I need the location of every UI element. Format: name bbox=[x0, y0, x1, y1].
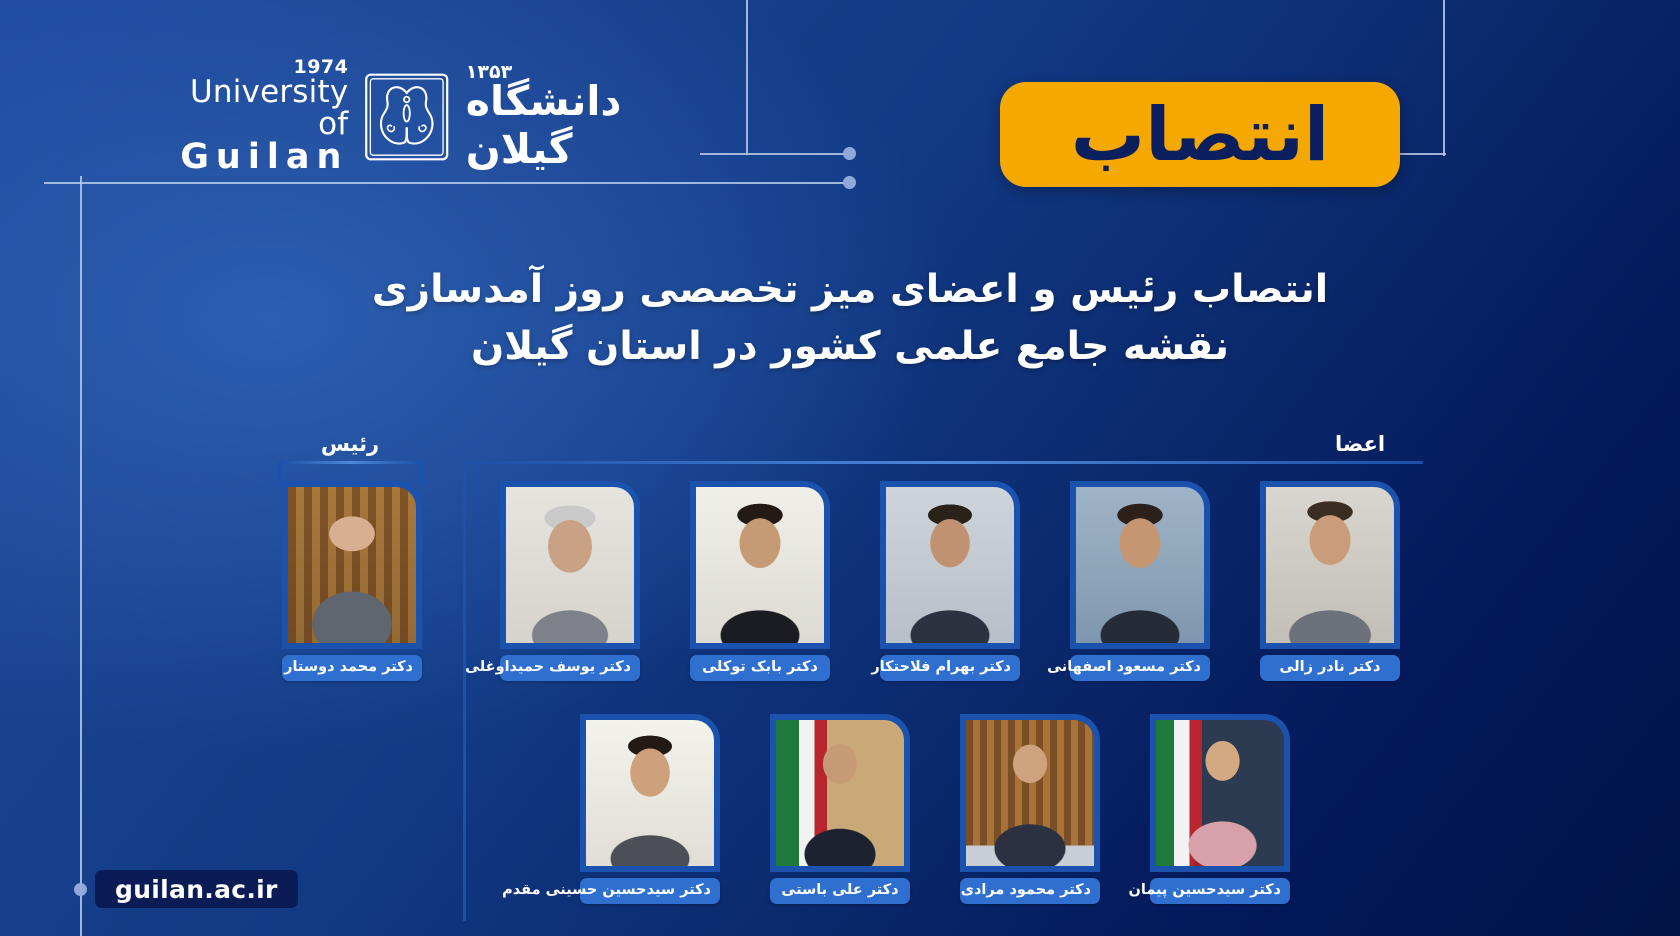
photo-frame bbox=[960, 714, 1100, 872]
photo-frame bbox=[500, 481, 640, 649]
person-name: دکتر محمد دوستار bbox=[282, 655, 422, 681]
decor-vline-upper bbox=[746, 0, 748, 155]
portrait-seyed-hossein-hosseini-moghaddam bbox=[586, 720, 714, 866]
decor-vline-left bbox=[80, 176, 82, 936]
portrait-bahram-falahatkar bbox=[886, 487, 1014, 643]
photo-frame bbox=[1070, 481, 1210, 649]
person-card-member: دکتر یوسف حمیداوغلی bbox=[500, 481, 640, 681]
person-name: دکتر بهرام فلاحتکار bbox=[880, 655, 1020, 681]
portrait-nader-zali bbox=[1266, 487, 1394, 643]
person-name: دکتر نادر زالی bbox=[1260, 655, 1400, 681]
person-name: دکتر سیدحسین حسینی مقدم bbox=[580, 878, 720, 904]
appointment-badge-label: انتصاب bbox=[1071, 98, 1329, 172]
guilan-emblem-icon bbox=[360, 71, 453, 163]
logo-persian-text: ۱۳۵۳ دانشگاه گیلان bbox=[466, 61, 735, 173]
decor-hline-long bbox=[44, 182, 844, 184]
portrait-babak-tavakoli bbox=[696, 487, 824, 643]
photo-frame bbox=[690, 481, 830, 649]
decor-dot-footer bbox=[74, 883, 87, 896]
logo-en-line2: Guilan bbox=[155, 140, 348, 176]
university-logo: 1974 University of Guilan ۱۳۵۳ دانشگاه گ… bbox=[155, 62, 735, 172]
decor-dot-hline-short bbox=[843, 147, 856, 160]
photo-frame bbox=[1150, 714, 1290, 872]
person-name: دکتر بابک توکلی bbox=[690, 655, 830, 681]
person-card-member: دکتر محمود مرادی bbox=[960, 714, 1100, 904]
person-name: دکتر سیدحسین پیمان bbox=[1150, 878, 1290, 904]
portrait-yousef-hamidoghli bbox=[506, 487, 634, 643]
logo-en-line1: University of bbox=[190, 74, 348, 142]
website-url-text: guilan.ac.ir bbox=[115, 875, 278, 904]
portrait-overlay-figure bbox=[966, 720, 1094, 866]
decor-dot-hline-long bbox=[843, 176, 856, 189]
portrait-overlay-figure bbox=[776, 720, 904, 866]
person-card-member: دکتر سیدحسین حسینی مقدم bbox=[580, 714, 720, 904]
photo-frame bbox=[880, 481, 1020, 649]
person-card-chair: دکتر محمد دوستار bbox=[282, 481, 422, 681]
chair-group-label: رئیس bbox=[270, 432, 430, 456]
photo-frame bbox=[282, 481, 422, 649]
person-name: دکتر یوسف حمیداوغلی bbox=[500, 655, 640, 681]
person-name: دکتر محمود مرادی bbox=[960, 878, 1100, 904]
poster-canvas: 1974 University of Guilan ۱۳۵۳ دانشگاه گ… bbox=[0, 0, 1680, 936]
members-group-label: اعضا bbox=[1290, 432, 1430, 456]
portrait-masoud-esfahani bbox=[1076, 487, 1204, 643]
person-name: دکتر مسعود اصفهانی bbox=[1070, 655, 1210, 681]
portrait-overlay-figure bbox=[288, 487, 416, 643]
appointment-badge: انتصاب bbox=[1000, 82, 1400, 187]
photo-frame bbox=[770, 714, 910, 872]
page-title: انتصاب رئیس و اعضای میز تخصصی روز آمدساز… bbox=[350, 262, 1350, 375]
page-title-line2: نقشه جامع علمی کشور در استان گیلان bbox=[350, 319, 1350, 376]
website-url-badge[interactable]: guilan.ac.ir bbox=[95, 870, 298, 908]
person-card-member: دکتر سیدحسین پیمان bbox=[1150, 714, 1290, 904]
logo-fa-name: دانشگاه گیلان bbox=[466, 77, 622, 173]
person-card-member: دکتر نادر زالی bbox=[1260, 481, 1400, 681]
person-name: دکتر علی باستی bbox=[770, 878, 910, 904]
portrait-overlay-figure bbox=[1156, 720, 1284, 866]
photo-frame bbox=[1260, 481, 1400, 649]
person-card-member: دکتر بهرام فلاحتکار bbox=[880, 481, 1020, 681]
photo-frame bbox=[580, 714, 720, 872]
person-card-member: دکتر علی باستی bbox=[770, 714, 910, 904]
decor-vline-right bbox=[1443, 0, 1445, 156]
logo-english-text: 1974 University of Guilan bbox=[155, 58, 348, 176]
person-card-member: دکتر بابک توکلی bbox=[690, 481, 830, 681]
person-card-member: دکتر مسعود اصفهانی bbox=[1070, 481, 1210, 681]
page-title-line1: انتصاب رئیس و اعضای میز تخصصی روز آمدساز… bbox=[350, 262, 1350, 319]
